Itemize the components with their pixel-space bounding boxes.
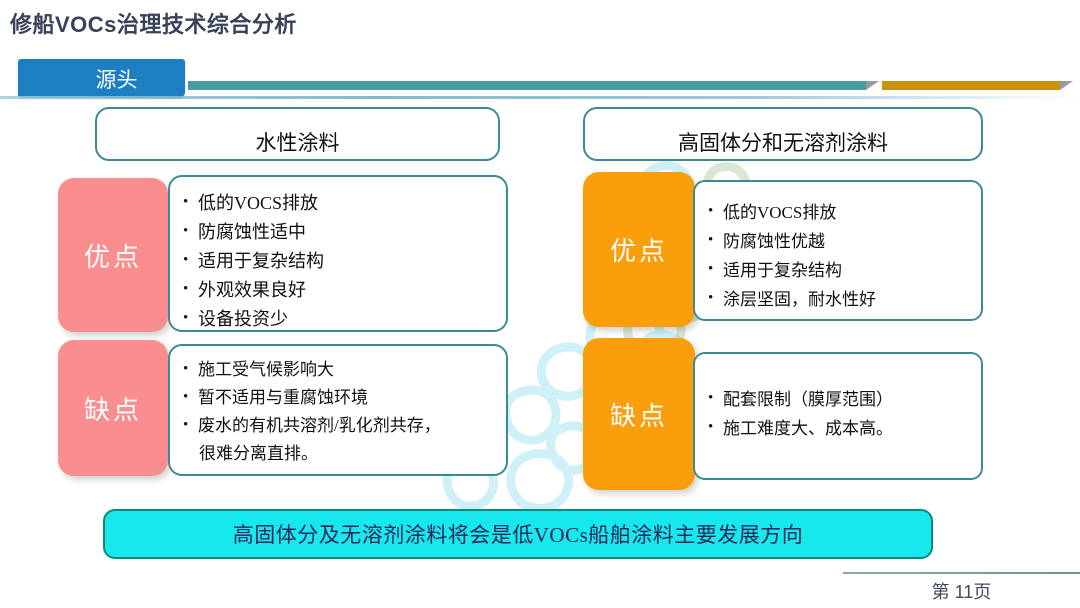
list-left-pros: 低的VOCS排放 防腐蚀性适中 适用于复杂结构 外观效果良好 设备投资少 [182,189,506,334]
list-right-cons: 配套限制（膜厚范围） 施工难度大、成本高。 [707,385,981,443]
chip-right-cons-label: 缺点 [610,396,668,433]
list-item-text-wrap: 很难分离直排。 [198,440,506,468]
page-number: 第 11页 [843,578,1080,604]
list-item: 施工受气候影响大 [182,356,506,384]
footer-divider [843,572,1080,574]
stage-tab-label: 源头 [18,64,171,94]
banner-chevron-teal-icon [866,81,879,90]
column-header-right-label: 高固体分和无溶剂涂料 [585,127,981,157]
list-item: 适用于复杂结构 [707,256,981,285]
list-right-pros: 低的VOCS排放 防腐蚀性优越 适用于复杂结构 涂层坚固，耐水性好 [707,198,981,314]
list-item-text: 废水的有机共溶剂/乳化剂共存， [198,416,441,435]
column-header-left-label: 水性涂料 [97,127,498,157]
chip-left-cons-label: 缺点 [84,390,142,427]
list-item: 配套限制（膜厚范围） [707,385,981,414]
list-item: 施工难度大、成本高。 [707,414,981,443]
page-title-text: 修船VOCs治理技术综合分析 [10,12,297,37]
list-item: 涂层坚固，耐水性好 [707,285,981,314]
content-box-right-cons: 配套限制（膜厚范围） 施工难度大、成本高。 [693,352,983,480]
chip-left-cons: 缺点 [58,340,168,476]
banner-underline [0,96,1080,99]
list-item: 防腐蚀性优越 [707,227,981,256]
list-item: 适用于复杂结构 [182,247,506,276]
conclusion-banner: 高固体分及无溶剂涂料将会是低VOCs船舶涂料主要发展方向 [103,509,933,559]
list-item: 设备投资少 [182,305,506,334]
content-box-left-cons: 施工受气候影响大 暂不适用与重腐蚀环境 废水的有机共溶剂/乳化剂共存，很难分离直… [168,344,508,476]
list-item: 废水的有机共溶剂/乳化剂共存，很难分离直排。 [182,412,506,468]
stage-tab[interactable]: 源头 [18,59,185,98]
banner-chevron-gold-icon [1060,81,1073,90]
column-header-left: 水性涂料 [95,107,500,161]
list-item: 暂不适用与重腐蚀环境 [182,384,506,412]
slide-canvas: 修船VOCs治理技术综合分析 源头 [0,0,1080,608]
banner-bar-teal [188,81,866,90]
list-item: 防腐蚀性适中 [182,218,506,247]
conclusion-text: 高固体分及无溶剂涂料将会是低VOCs船舶涂料主要发展方向 [105,519,931,549]
list-left-cons: 施工受气候影响大 暂不适用与重腐蚀环境 废水的有机共溶剂/乳化剂共存，很难分离直… [182,356,506,468]
content-box-left-pros: 低的VOCS排放 防腐蚀性适中 适用于复杂结构 外观效果良好 设备投资少 [168,175,508,332]
chip-left-pros-label: 优点 [84,237,142,274]
list-item: 低的VOCS排放 [182,189,506,218]
column-header-right: 高固体分和无溶剂涂料 [583,107,983,161]
list-item: 外观效果良好 [182,276,506,305]
content-box-right-pros: 低的VOCS排放 防腐蚀性优越 适用于复杂结构 涂层坚固，耐水性好 [693,180,983,321]
chip-right-cons: 缺点 [583,338,695,490]
page-title: 修船VOCs治理技术综合分析 [10,7,297,39]
chip-right-pros: 优点 [583,172,695,327]
list-item: 低的VOCS排放 [707,198,981,227]
chip-left-pros: 优点 [58,178,168,332]
banner-bar-gold [882,81,1060,90]
chip-right-pros-label: 优点 [610,231,668,268]
